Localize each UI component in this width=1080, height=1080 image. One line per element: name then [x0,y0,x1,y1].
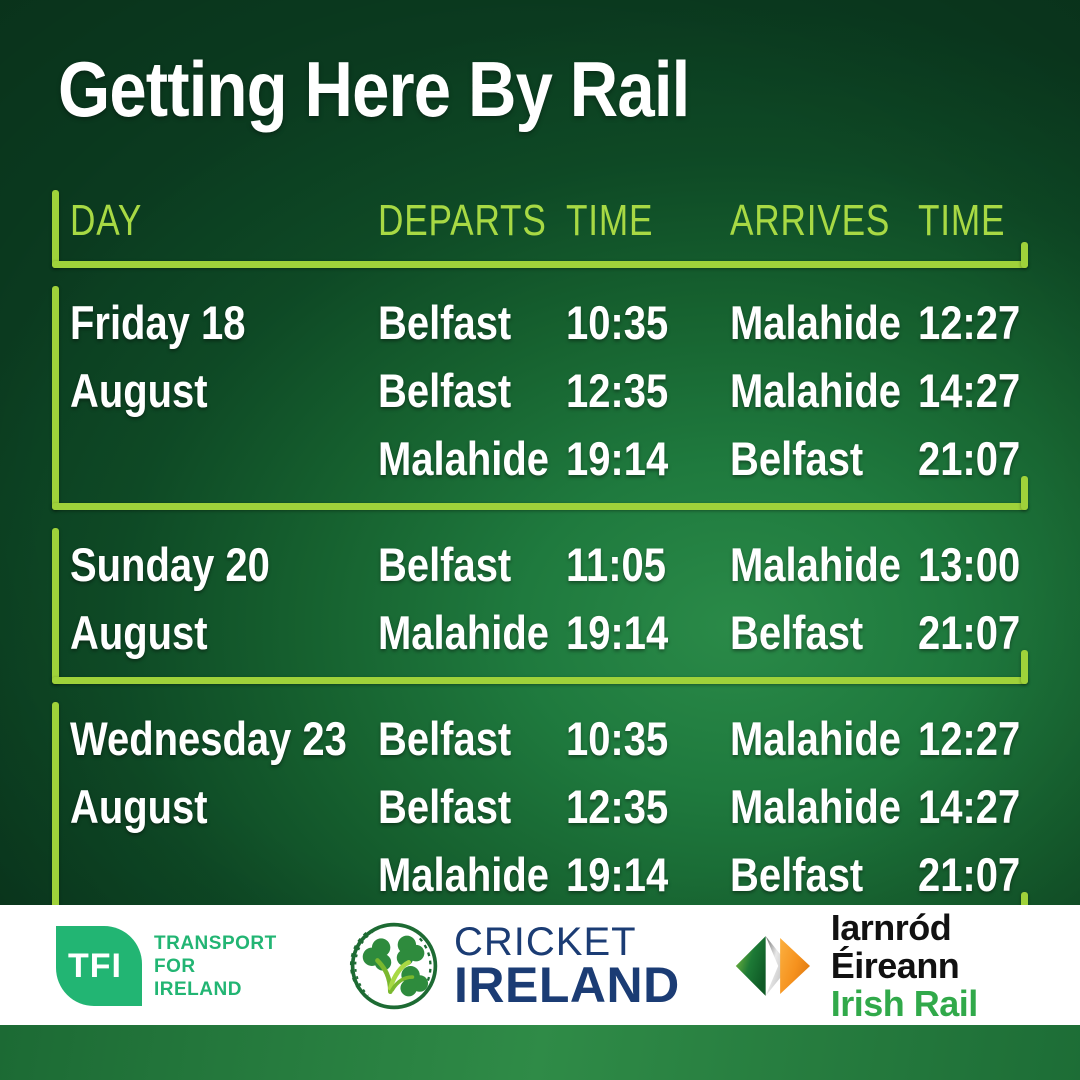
cell-arrives-time: 12:27 [918,290,1020,356]
cell-departs-time: 12:35 [566,774,668,840]
cell-arrives: Belfast [730,426,863,492]
cell-arrives-time: 21:07 [918,842,1020,908]
timetable-group: Wednesday 23 Belfast 10:35 Malahide 12:2… [0,702,1080,926]
irish-rail-line-2: Irish Rail [831,985,1080,1023]
logo-irish-rail: Iarnród Éireann Irish Rail [730,928,1080,1004]
irish-rail-line-1: Iarnród Éireann [831,909,1080,985]
tfi-line-2: FOR [154,955,277,978]
cell-departs: Belfast [378,532,511,598]
logo-transport-for-ireland: TFI TRANSPORT FOR IRELAND [56,925,277,1007]
table-row: Friday 18 Belfast 10:35 Malahide 12:27 [0,290,1080,358]
tfi-line-3: IRELAND [154,978,277,1001]
cell-departs: Belfast [378,358,511,424]
cell-arrives: Malahide [730,774,901,840]
cell-arrives: Malahide [730,706,901,772]
rail-timetable-poster: Getting Here By Rail DAY DEPARTS TIME AR… [0,0,1080,1080]
table-row: August Belfast 12:35 Malahide 14:27 [0,774,1080,842]
cell-departs: Belfast [378,774,511,840]
irish-rail-wordmark: Iarnród Éireann Irish Rail [831,909,1080,1023]
tfi-wordmark: TRANSPORT FOR IRELAND [154,932,277,1001]
table-row: Wednesday 23 Belfast 10:35 Malahide 12:2… [0,706,1080,774]
tfi-line-1: TRANSPORT [154,932,277,955]
table-row: Malahide 19:14 Belfast 21:07 [0,842,1080,910]
cell-arrives: Belfast [730,600,863,666]
table-row: August Malahide 19:14 Belfast 21:07 [0,600,1080,668]
cell-departs-time: 10:35 [566,706,668,772]
cell-day: Friday 18 [70,290,245,356]
cricket-ireland-line-1: CRICKET [454,923,680,961]
cell-arrives-time: 14:27 [918,774,1020,840]
cell-departs-time: 11:05 [566,532,666,598]
timetable: DAY DEPARTS TIME ARRIVES TIME Friday 18 … [0,190,1080,944]
column-header-arrives: ARRIVES [730,192,890,250]
cell-departs: Belfast [378,290,511,356]
cricket-ireland-line-2: IRELAND [454,961,680,1009]
cell-day: Wednesday 23 [70,706,347,772]
cell-departs-time: 19:14 [566,426,668,492]
cell-day: August [70,358,208,424]
cell-day: August [70,774,208,840]
header-row-container: DAY DEPARTS TIME ARRIVES TIME [0,190,1080,268]
timetable-group: Sunday 20 Belfast 11:05 Malahide 13:00 A… [0,528,1080,684]
table-row: Sunday 20 Belfast 11:05 Malahide 13:00 [0,532,1080,600]
column-header-arrives-time: TIME [918,192,1005,250]
cell-arrives-time: 21:07 [918,600,1020,666]
tfi-leaf-icon: TFI [56,926,142,1006]
cell-arrives-time: 13:00 [918,532,1020,598]
cell-departs-time: 19:14 [566,600,668,666]
group-row-container: Sunday 20 Belfast 11:05 Malahide 13:00 A… [0,528,1080,684]
table-row: Malahide 19:14 Belfast 21:07 [0,426,1080,494]
group-row-container: Wednesday 23 Belfast 10:35 Malahide 12:2… [0,702,1080,926]
cell-departs: Malahide [378,600,549,666]
group-row-container: Friday 18 Belfast 10:35 Malahide 12:27 A… [0,286,1080,510]
tfi-monogram: TFI [68,947,122,986]
table-header-row: DAY DEPARTS TIME ARRIVES TIME [0,192,1080,254]
cell-departs-time: 12:35 [566,358,668,424]
timetable-header-block: DAY DEPARTS TIME ARRIVES TIME [0,190,1080,268]
cell-arrives: Malahide [730,290,901,356]
cricket-ball-shamrock-icon [348,920,440,1012]
cell-arrives-time: 21:07 [918,426,1020,492]
cell-departs: Malahide [378,842,549,908]
cell-arrives: Malahide [730,358,901,424]
cell-departs: Malahide [378,426,549,492]
cell-arrives-time: 14:27 [918,358,1020,424]
page-title: Getting Here By Rail [58,50,689,128]
irish-rail-chevron-icon [730,931,817,1001]
column-header-departs: DEPARTS [378,192,547,250]
cell-day: Sunday 20 [70,532,270,598]
cell-arrives: Belfast [730,842,863,908]
cell-departs: Belfast [378,706,511,772]
cell-day: August [70,600,208,666]
column-header-day: DAY [70,192,142,250]
timetable-group: Friday 18 Belfast 10:35 Malahide 12:27 A… [0,286,1080,510]
cell-departs-time: 10:35 [566,290,668,356]
column-header-departs-time: TIME [566,192,653,250]
logo-cricket-ireland: CRICKET IRELAND [348,920,680,1012]
bottom-green-strip [0,1025,1080,1080]
cricket-ireland-wordmark: CRICKET IRELAND [454,923,680,1009]
cell-arrives: Malahide [730,532,901,598]
table-row: August Belfast 12:35 Malahide 14:27 [0,358,1080,426]
cell-arrives-time: 12:27 [918,706,1020,772]
cell-departs-time: 19:14 [566,842,668,908]
